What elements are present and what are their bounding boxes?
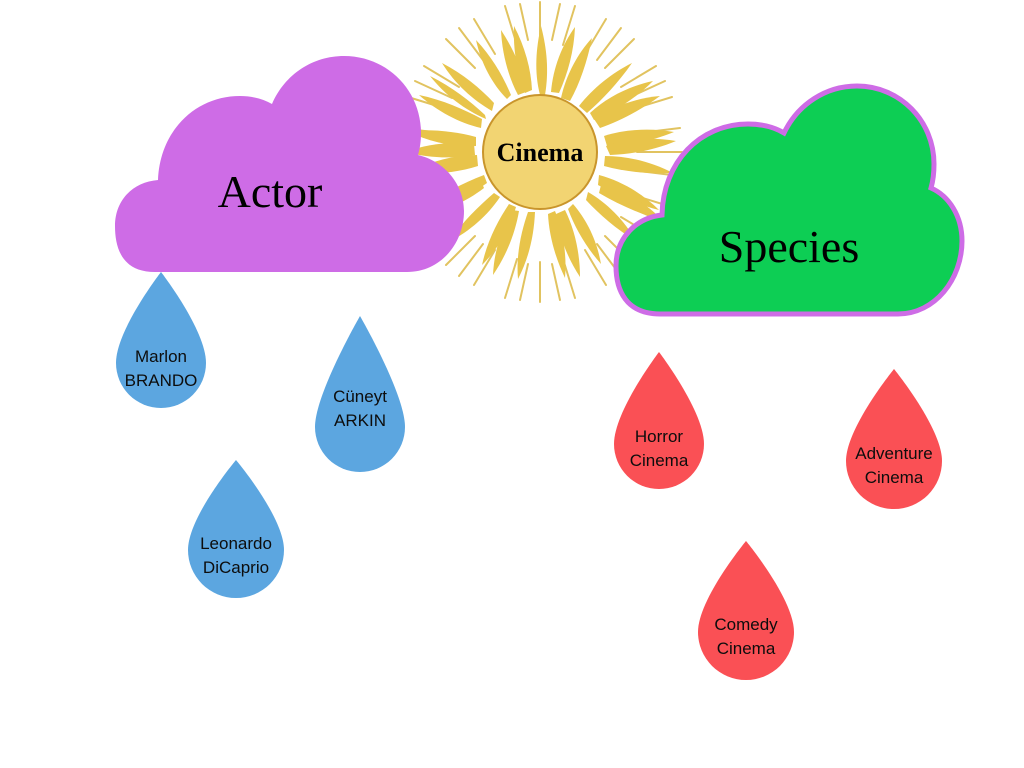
drop-leonardo-dicaprio-line2: DiCaprio [203,558,269,577]
drop-horror-cinema-line2: Cinema [630,451,689,470]
sun-label: Cinema [497,138,584,167]
cloud-species-shape [616,86,962,314]
drop-adventure-cinema-line2: Cinema [865,468,924,487]
drop-leonardo-dicaprio[interactable]: Leonardo DiCaprio [188,460,284,598]
drop-horror-cinema[interactable]: Horror Cinema [614,352,704,489]
drop-marlon-brando[interactable]: Marlon BRANDO [116,272,206,408]
drop-comedy-cinema-line2: Cinema [717,639,776,658]
cloud-actor-label: Actor [218,166,323,217]
drop-cuneyt-arkin[interactable]: Cüneyt ARKIN [315,316,405,472]
drop-cuneyt-arkin-line2: ARKIN [334,411,386,430]
drop-leonardo-dicaprio-line1: Leonardo [200,534,272,553]
cloud-species-label: Species [719,221,860,272]
drop-marlon-brando-line1: Marlon [135,347,187,366]
drop-horror-cinema-line1: Horror [635,427,684,446]
diagram-canvas: Cinema Actor Species Marlon BRANDO Cüney… [0,0,1024,768]
drop-shape [698,541,794,680]
drop-cuneyt-arkin-line1: Cüneyt [333,387,387,406]
cloud-actor[interactable]: Actor [115,56,464,272]
cloud-actor-shape [115,56,464,272]
drop-adventure-cinema-line1: Adventure [855,444,933,463]
cloud-species[interactable]: Species [616,86,962,314]
drop-adventure-cinema[interactable]: Adventure Cinema [846,369,942,509]
drop-shape [846,369,942,509]
drop-marlon-brando-line2: BRANDO [125,371,198,390]
drop-shape [188,460,284,598]
drop-comedy-cinema-line1: Comedy [714,615,778,634]
drop-comedy-cinema[interactable]: Comedy Cinema [698,541,794,680]
